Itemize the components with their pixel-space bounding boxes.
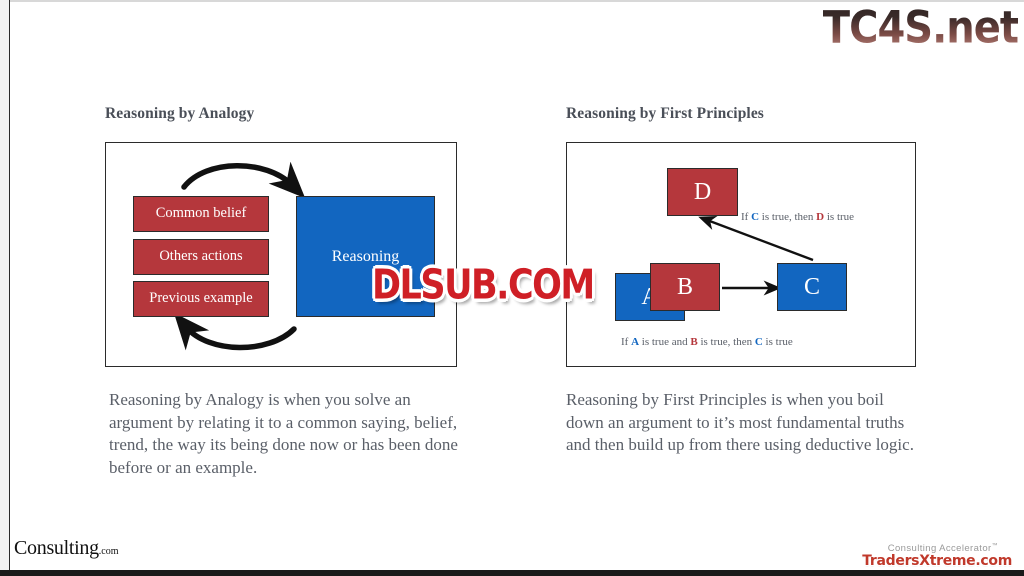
node-label: B (677, 274, 693, 300)
slide-bottom-bar (0, 570, 1024, 576)
consulting-logo-tld: .com (99, 546, 119, 557)
caption-prefix: If (741, 211, 751, 223)
caption-c-implies-d: If C is true, then D is true (741, 211, 854, 223)
panel-title-first-principles: Reasoning by First Principles (566, 105, 764, 123)
node-previous-example[interactable]: Previous example (133, 281, 269, 317)
caption-term-a: A (631, 336, 639, 348)
trademark-symbol: ™ (992, 543, 998, 549)
caption-prefix: If (621, 336, 631, 348)
caption-mid: is true, then (759, 211, 816, 223)
caption-term-b: B (690, 336, 697, 348)
node-reasoning[interactable]: Reasoning (296, 196, 435, 317)
consulting-logo-name: Consulting (14, 537, 99, 559)
node-label: Common belief (156, 206, 247, 222)
node-b[interactable]: B (650, 263, 720, 311)
slide-left-border (0, 0, 10, 576)
caption-term-c: C (751, 211, 759, 223)
caption-suffix: is true (824, 211, 854, 223)
panel-title-analogy: Reasoning by Analogy (105, 105, 254, 123)
caption-term-d: D (816, 211, 824, 223)
body-text-analogy: Reasoning by Analogy is when you solve a… (109, 389, 459, 479)
caption-mid-1: is true and (639, 336, 690, 348)
tc4s-watermark: TC4S.net (823, 2, 1018, 54)
consulting-logo: Consulting.com (14, 537, 119, 560)
caption-mid-2: is true, then (698, 336, 755, 348)
node-label: D (694, 179, 711, 205)
slide-canvas: TC4S.net Reasoning by Analogy Common bel… (0, 0, 1024, 576)
node-label: Previous example (149, 291, 253, 307)
tradersxtreme-watermark: TradersXtreme.com (862, 553, 1012, 569)
node-label: C (804, 274, 820, 300)
caption-suffix: is true (763, 336, 793, 348)
body-text-first-principles: Reasoning by First Principles is when yo… (566, 389, 916, 457)
diagram-first-principles: A D B C If C is true, then D is true If … (566, 142, 916, 367)
node-label: Others actions (159, 249, 242, 265)
caption-ab-implies-c: If A is true and B is true, then C is tr… (621, 336, 793, 348)
first-principles-arrows (567, 143, 915, 366)
caption-term-c: C (755, 336, 763, 348)
diagram-analogy: Common belief Others actions Previous ex… (105, 142, 457, 367)
node-common-belief[interactable]: Common belief (133, 196, 269, 232)
node-d[interactable]: D (667, 168, 738, 216)
node-label: Reasoning (332, 248, 400, 266)
node-others-actions[interactable]: Others actions (133, 239, 269, 275)
node-c[interactable]: C (777, 263, 847, 311)
